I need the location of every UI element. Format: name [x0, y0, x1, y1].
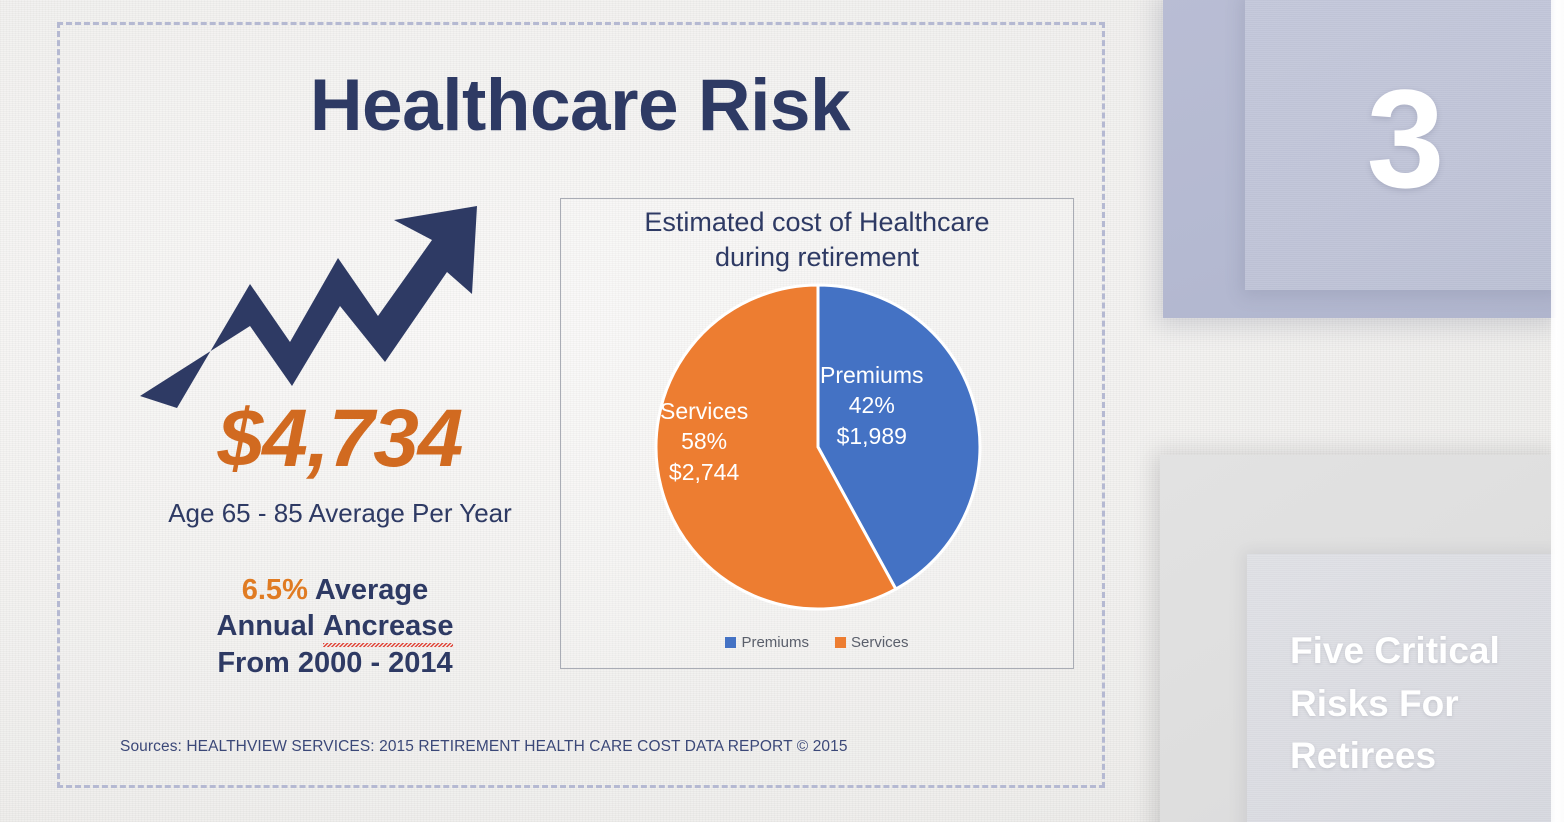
slide-canvas: 3 Five Critical Risks For Retirees Healt… — [0, 0, 1564, 822]
pie-label-services: Services 58% $2,744 — [660, 396, 748, 487]
legend-label-services: Services — [851, 634, 909, 651]
deck-title-caption: Five Critical Risks For Retirees — [1290, 625, 1550, 783]
page-title: Healthcare Risk — [60, 68, 1100, 145]
pie-label-services-name: Services — [660, 396, 748, 426]
legend-swatch-services — [835, 637, 846, 648]
chart-title-line-2: during retirement — [575, 240, 1059, 275]
sources-footnote: Sources: HEALTHVIEW SERVICES: 2015 RETIR… — [120, 738, 848, 756]
increase-rate-value: 6.5% — [242, 574, 308, 606]
annual-cost-amount: $4,734 — [140, 396, 540, 482]
stat-line-1: 6.5% Average — [150, 572, 520, 608]
legend-swatch-premiums — [725, 637, 736, 648]
pie-label-premiums: Premiums 42% $1,989 — [820, 360, 924, 451]
chart-title: Estimated cost of Healthcare during reti… — [575, 205, 1059, 274]
chart-legend: Premiums Services — [560, 634, 1074, 651]
pie-label-services-value: $2,744 — [660, 457, 748, 487]
annual-cost-caption: Age 65 - 85 Average Per Year — [140, 498, 540, 529]
legend-item-services[interactable]: Services — [835, 634, 909, 651]
stat-line-2: Annual Ancrease — [150, 608, 520, 644]
trend-arrow-icon — [132, 196, 492, 416]
slide-number-badge: 3 — [1245, 0, 1564, 290]
pie-label-premiums-value: $1,989 — [820, 421, 924, 451]
increase-rate-suffix: Average — [308, 574, 428, 606]
legend-label-premiums: Premiums — [741, 634, 809, 651]
annual-increase-stat: 6.5% Average Annual Ancrease From 2000 -… — [150, 572, 520, 681]
pie-label-premiums-name: Premiums — [820, 360, 924, 390]
pie-label-premiums-percent: 42% — [820, 390, 924, 420]
stat-line-3: From 2000 - 2014 — [150, 645, 520, 681]
stat-line-2-prefix: Annual — [217, 610, 323, 642]
pie-label-services-percent: 58% — [660, 426, 748, 456]
right-edge-seam — [1551, 0, 1564, 822]
legend-item-premiums[interactable]: Premiums — [725, 634, 809, 651]
misspelled-word: Ancrease — [323, 608, 454, 644]
chart-title-line-1: Estimated cost of Healthcare — [575, 205, 1059, 240]
